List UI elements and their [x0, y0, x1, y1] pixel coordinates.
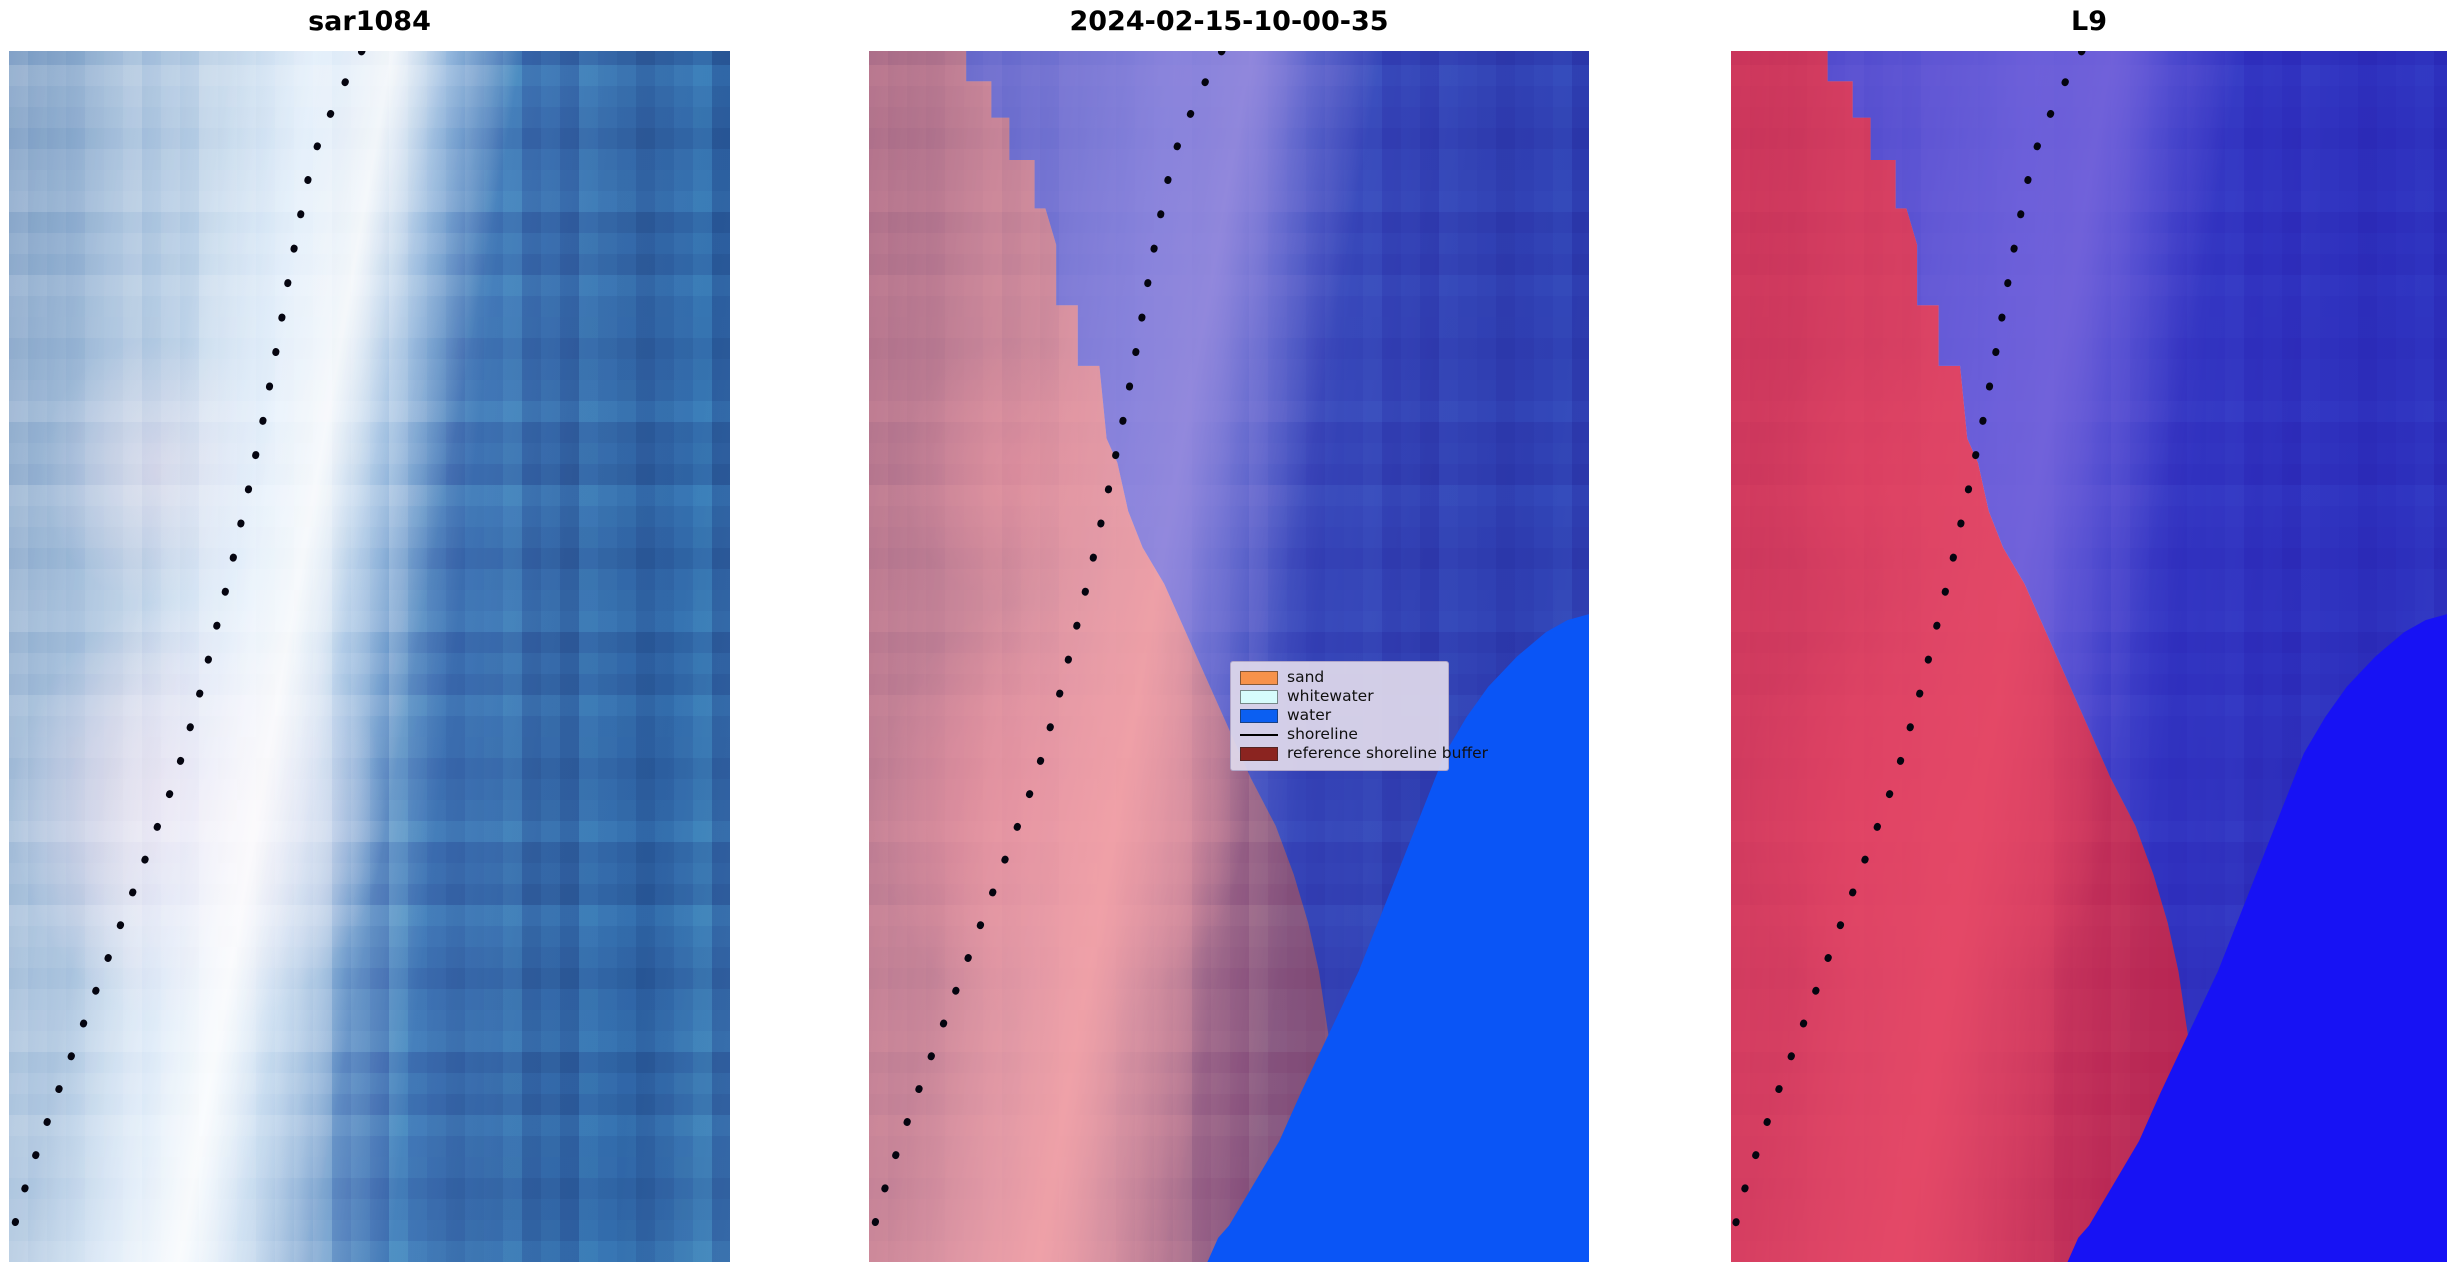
legend-label-reference-buffer: reference shoreline buffer — [1287, 744, 1488, 763]
legend-item-shoreline[interactable]: shoreline — [1240, 725, 1439, 744]
legend-label-sand: sand — [1287, 668, 1324, 687]
pixel-mottle-coarse-1 — [9, 51, 730, 1262]
buffer-swatch-icon — [1240, 747, 1278, 761]
legend-label-water: water — [1287, 706, 1331, 725]
legend-item-reference-buffer[interactable]: reference shoreline buffer — [1240, 744, 1439, 763]
legend-item-sand[interactable]: sand — [1240, 668, 1439, 687]
water-swatch-icon — [1240, 709, 1278, 723]
image-axes-3[interactable] — [1731, 51, 2447, 1262]
dotted-line-icon — [1240, 728, 1278, 742]
legend-item-whitewater[interactable]: whitewater — [1240, 687, 1439, 706]
image-axes-2[interactable]: sand whitewater water shoreline referenc… — [869, 51, 1589, 1262]
image-axes-1[interactable] — [9, 51, 730, 1262]
panel-title-2: 2024-02-15-10-00-35 — [869, 0, 1589, 44]
legend-item-water[interactable]: water — [1240, 706, 1439, 725]
sand-swatch-icon — [1240, 671, 1278, 685]
whitewater-swatch-icon — [1240, 690, 1278, 704]
legend-label-shoreline: shoreline — [1287, 725, 1358, 744]
panel-title-3: L9 — [1731, 0, 2447, 44]
legend-label-whitewater: whitewater — [1287, 687, 1374, 706]
figure-canvas: sar1084 2024-02-15-10-00-35 sand w — [0, 0, 2460, 1278]
panel-title-1: sar1084 — [9, 0, 730, 44]
legend-box: sand whitewater water shoreline referenc… — [1230, 661, 1449, 771]
